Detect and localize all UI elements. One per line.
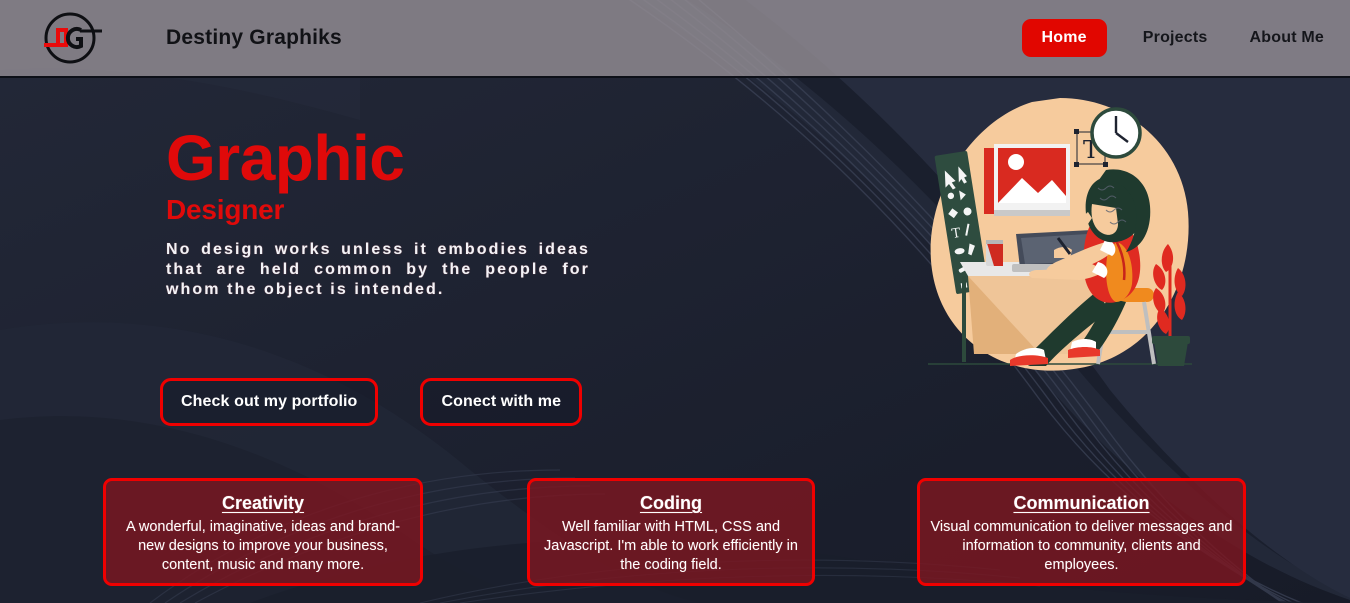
hero-text-block: Graphic Designer No design works unless … bbox=[166, 128, 636, 300]
dg-monogram-logo-icon bbox=[36, 8, 108, 68]
brand[interactable]: Destiny Graphiks bbox=[0, 8, 342, 68]
card-body: Well familiar with HTML, CSS and Javascr… bbox=[540, 518, 802, 575]
page-root: Destiny Graphiks Home Projects About Me … bbox=[0, 0, 1350, 603]
card-body: Visual communication to deliver messages… bbox=[930, 518, 1233, 575]
site-header: Destiny Graphiks Home Projects About Me bbox=[0, 0, 1350, 78]
card-title: Coding bbox=[540, 491, 802, 515]
card-title: Communication bbox=[930, 491, 1233, 515]
nav-item-projects[interactable]: Projects bbox=[1137, 19, 1214, 57]
hero-button-row: Check out my portfolio Conect with me bbox=[160, 378, 582, 426]
connect-button[interactable]: Conect with me bbox=[420, 378, 582, 426]
hero-paragraph: No design works unless it embodies ideas… bbox=[166, 240, 590, 300]
feature-card-coding[interactable]: Coding Well familiar with HTML, CSS and … bbox=[527, 478, 815, 586]
nav-item-home[interactable]: Home bbox=[1022, 19, 1107, 57]
feature-card-communication[interactable]: Communication Visual communication to de… bbox=[917, 478, 1246, 586]
feature-cards: Creativity A wonderful, imaginative, ide… bbox=[0, 478, 1350, 588]
designer-at-desk-illustration: T T bbox=[920, 92, 1200, 380]
hero-title-main: Graphic bbox=[166, 128, 636, 189]
nav-item-about-me[interactable]: About Me bbox=[1244, 19, 1330, 57]
card-body: A wonderful, imaginative, ideas and bran… bbox=[116, 518, 410, 575]
main-nav: Home Projects About Me bbox=[1022, 19, 1350, 57]
brand-name: Destiny Graphiks bbox=[126, 26, 342, 50]
portfolio-button[interactable]: Check out my portfolio bbox=[160, 378, 378, 426]
hero-title-sub: Designer bbox=[166, 195, 636, 226]
card-title: Creativity bbox=[116, 491, 410, 515]
feature-card-creativity[interactable]: Creativity A wonderful, imaginative, ide… bbox=[103, 478, 423, 586]
